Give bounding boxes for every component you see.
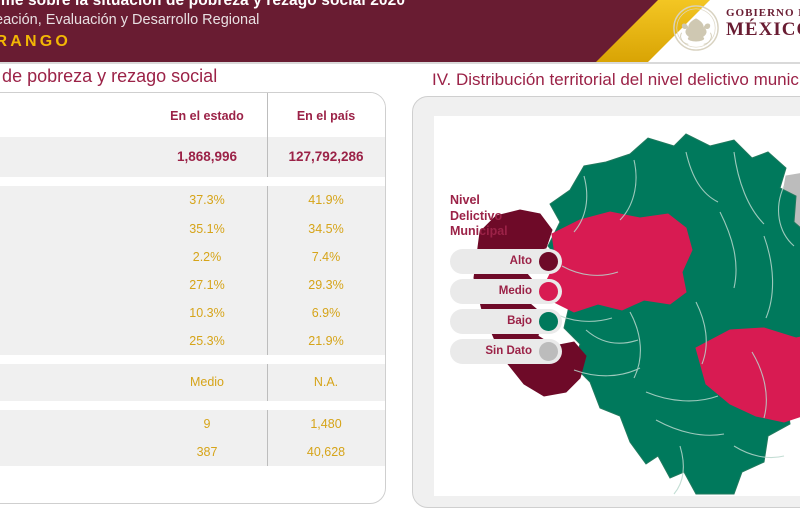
legend-swatch-bajo-icon [539, 312, 558, 331]
poverty-indicators-table: Indicador En el estado En el país Número… [0, 93, 385, 466]
row-label: Grado de rezago social3 [0, 364, 147, 401]
row-value-pais: 1,480 [267, 410, 385, 438]
spacer-cell [147, 401, 267, 410]
page-header-band: Informe sobre la situación de pobreza y … [0, 0, 800, 62]
table-row: Número de municipios 9 1,480 [0, 410, 385, 438]
spacer-cell [0, 355, 147, 364]
spacer-cell [267, 355, 385, 364]
legend-title-line2: Delictivo [450, 209, 562, 225]
row-value-estado: 35.1% [147, 215, 267, 243]
spacer-cell [0, 401, 147, 410]
row-value-estado: 10.3% [147, 299, 267, 327]
header-state-name: DURANGO [0, 33, 71, 51]
row-label: Población vulnerable por carencias [0, 271, 147, 299]
column-header-indicador: Indicador [0, 93, 147, 137]
table-row: Población vulnerable por carencias 27.1%… [0, 271, 385, 299]
map-legend: Nivel Delictivo Municipal Alto Medio Baj… [450, 193, 562, 369]
left-section-title: Indicadores de pobreza y rezago social [0, 66, 217, 87]
row-label: Número de municipios [0, 410, 147, 438]
spacer-cell [267, 401, 385, 410]
table-row: Población no pobre y no vulnerable 25.3%… [0, 327, 385, 355]
row-value-pais: 7.4% [267, 243, 385, 271]
table-row: Población en pobreza2 37.3% 41.9% [0, 186, 385, 215]
row-label: Población vulnerable por ingresos [0, 299, 147, 327]
column-header-en-el-estado: En el estado [147, 93, 267, 137]
crime-map-card: Nivel Delictivo Municipal Alto Medio Baj… [412, 96, 800, 508]
right-section-title: IV. Distribución territorial del nivel d… [432, 70, 800, 90]
header-title-line1: Informe sobre la situación de pobreza y … [0, 0, 405, 10]
header-underline [0, 62, 800, 64]
legend-item-bajo[interactable]: Bajo [450, 309, 562, 334]
legend-title-line3: Municipal [450, 224, 562, 240]
row-value-estado: Medio [147, 364, 267, 401]
row-value-estado: 9 [147, 410, 267, 438]
legend-item-sin-dato[interactable]: Sin Dato [450, 339, 562, 364]
row-value-pais: 41.9% [267, 186, 385, 215]
table-row: Número de localidades 387 40,628 [0, 438, 385, 466]
table-spacer-row [0, 355, 385, 364]
row-label: Número de personas1 [0, 137, 147, 177]
spacer-cell [147, 177, 267, 186]
legend-title: Nivel Delictivo Municipal [450, 193, 562, 240]
row-value-estado: 2.2% [147, 243, 267, 271]
legend-label: Alto [510, 255, 532, 267]
row-value-pais: 40,628 [267, 438, 385, 466]
table-row: Población en pobreza moderada 35.1% 34.5… [0, 215, 385, 243]
row-value-estado: 1,868,996 [147, 137, 267, 177]
row-value-estado: 387 [147, 438, 267, 466]
row-label: Número de localidades [0, 438, 147, 466]
row-label: Población en pobreza2 [0, 186, 147, 215]
row-label: Población en pobreza moderada [0, 215, 147, 243]
table-spacer-row [0, 177, 385, 186]
row-value-pais: 6.9% [267, 299, 385, 327]
mexican-coat-of-arms-icon [672, 4, 720, 52]
gob-line1: GOBIERNO DE [726, 8, 800, 19]
table-spacer-row [0, 401, 385, 410]
header-subtitle: Planeación, Evaluación y Desarrollo Regi… [0, 12, 259, 28]
legend-swatch-alto-icon [539, 252, 558, 271]
legend-label: Medio [499, 285, 532, 297]
row-label: Población en pobreza extrema [0, 243, 147, 271]
legend-label: Bajo [507, 315, 532, 327]
spacer-cell [267, 177, 385, 186]
row-value-pais: 29.3% [267, 271, 385, 299]
row-value-pais: N.A. [267, 364, 385, 401]
spacer-cell [0, 177, 147, 186]
legend-swatch-sin-dato-icon [539, 342, 558, 361]
legend-swatch-medio-icon [539, 282, 558, 301]
poverty-indicators-card: Indicador En el estado En el país Número… [0, 92, 386, 504]
row-value-estado: 37.3% [147, 186, 267, 215]
map-region-medio[interactable] [546, 212, 692, 312]
row-label: Población no pobre y no vulnerable [0, 327, 147, 355]
table-row: Población vulnerable por ingresos 10.3% … [0, 299, 385, 327]
legend-title-line1: Nivel [450, 193, 562, 209]
row-value-pais: 127,792,286 [267, 137, 385, 177]
table-row: Población en pobreza extrema 2.2% 7.4% [0, 243, 385, 271]
row-value-estado: 25.3% [147, 327, 267, 355]
table-row: Grado de rezago social3 Medio N.A. [0, 364, 385, 401]
legend-item-medio[interactable]: Medio [450, 279, 562, 304]
gobierno-de-mexico-wordmark: GOBIERNO DE MÉXICO [726, 8, 800, 39]
table-row: Número de personas1 1,868,996 127,792,28… [0, 137, 385, 177]
row-value-estado: 27.1% [147, 271, 267, 299]
spacer-cell [147, 355, 267, 364]
legend-item-alto[interactable]: Alto [450, 249, 562, 274]
column-header-en-el-pais: En el país [267, 93, 385, 137]
row-value-pais: 34.5% [267, 215, 385, 243]
table-header-row: Indicador En el estado En el país [0, 93, 385, 137]
row-value-pais: 21.9% [267, 327, 385, 355]
gob-line2: MÉXICO [726, 20, 800, 39]
legend-label: Sin Dato [485, 345, 532, 357]
